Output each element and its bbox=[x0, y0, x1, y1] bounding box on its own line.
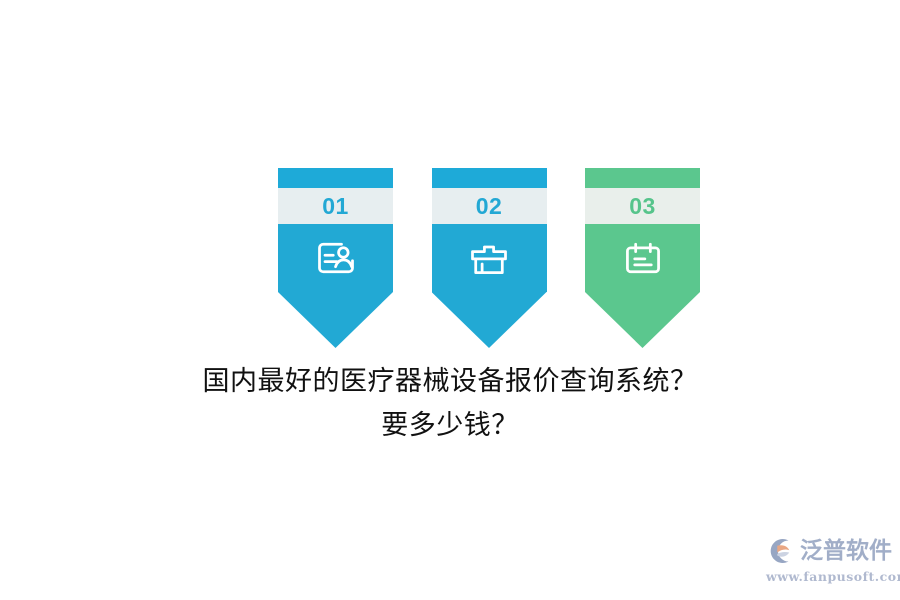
banner-card-03[interactable]: 03 bbox=[585, 168, 700, 348]
banner-point-03 bbox=[585, 292, 700, 348]
brand-watermark: 泛普软件 www.fanpusoft.com bbox=[766, 534, 894, 590]
banner-top-bar-02 bbox=[432, 168, 547, 188]
banner-number-band-03: 03 bbox=[585, 188, 700, 224]
banner-card-01[interactable]: 01 bbox=[278, 168, 393, 348]
banner-point-01 bbox=[278, 292, 393, 348]
fanpu-circle-logo-icon bbox=[766, 536, 796, 566]
watermark-brand-name: 泛普软件 bbox=[800, 540, 892, 563]
notepad-icon bbox=[621, 236, 665, 280]
banner-top-bar-03 bbox=[585, 168, 700, 188]
banner-top-bar-01 bbox=[278, 168, 393, 188]
banner-body-01 bbox=[278, 224, 393, 292]
banner-body-03 bbox=[585, 224, 700, 292]
banner-number-band-02: 02 bbox=[432, 188, 547, 224]
id-card-icon bbox=[314, 236, 358, 280]
page-headline: 国内最好的医疗器械设备报价查询系统？ 要多少钱？ bbox=[0, 360, 900, 448]
banner-body-02 bbox=[432, 224, 547, 292]
headline-line-2: 要多少钱？ bbox=[0, 404, 900, 448]
banner-number-band-01: 01 bbox=[278, 188, 393, 224]
page-canvas: 01 02 bbox=[0, 0, 900, 600]
banner-group: 01 02 bbox=[278, 168, 700, 348]
headline-line-1: 国内最好的医疗器械设备报价查询系统？ bbox=[0, 360, 900, 404]
banner-card-02[interactable]: 02 bbox=[432, 168, 547, 348]
watermark-url: www.fanpusoft.com bbox=[766, 569, 894, 584]
banner-number-03: 03 bbox=[629, 195, 656, 218]
watermark-brand-row: 泛普软件 bbox=[766, 534, 894, 568]
banner-number-01: 01 bbox=[322, 195, 349, 218]
banner-number-02: 02 bbox=[476, 195, 503, 218]
store-front-icon bbox=[467, 236, 511, 280]
banner-point-02 bbox=[432, 292, 547, 348]
